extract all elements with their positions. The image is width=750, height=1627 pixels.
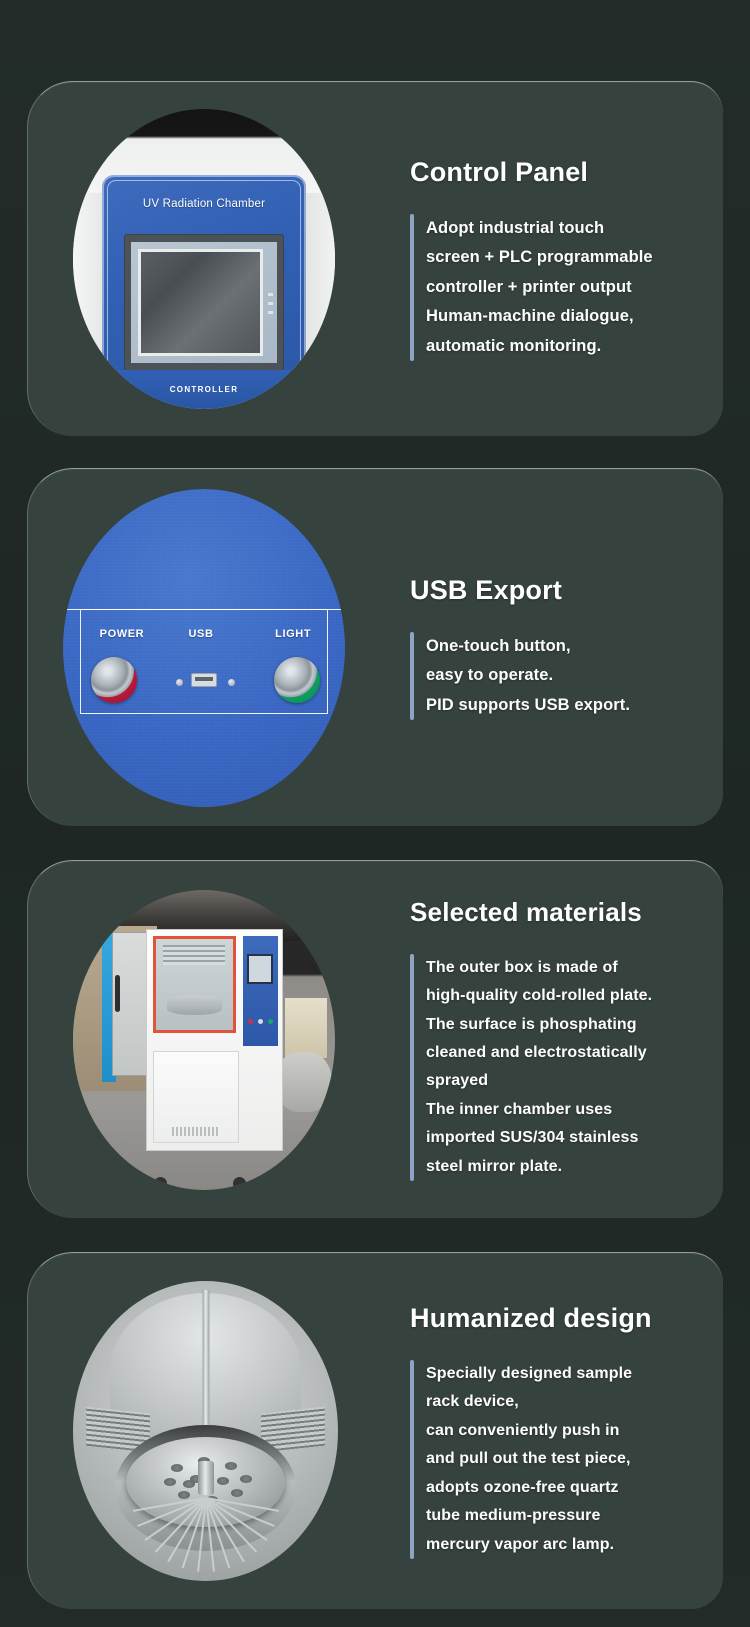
card-title-usb-export: USB Export <box>410 575 699 606</box>
body-line: and pull out the test piece, <box>426 1445 632 1473</box>
plate-hole <box>178 1491 190 1499</box>
chamber-brand-label: UV Radiation Chamber <box>102 198 306 210</box>
feature-cards-page: UV Radiation Chamber CONTROLLER Control … <box>0 0 750 1627</box>
body-line: automatic monitoring. <box>426 332 653 361</box>
plate-hole <box>240 1475 252 1483</box>
body-line: Specially designed sample <box>426 1360 632 1388</box>
body-line: PID supports USB export. <box>426 691 630 720</box>
card-title-control-panel: Control Panel <box>410 157 699 188</box>
hmi-touchscreen <box>124 234 283 371</box>
body-line: mercury vapor arc lamp. <box>426 1531 632 1559</box>
body-line: One-touch button, <box>426 632 630 661</box>
body-line: sprayed <box>426 1067 652 1095</box>
accent-bar <box>410 954 414 1182</box>
controller-panel-photo: UV Radiation Chamber CONTROLLER <box>73 109 335 409</box>
feature-card-control-panel: UV Radiation Chamber CONTROLLER Control … <box>27 81 723 436</box>
body-line: high-quality cold-rolled plate. <box>426 982 652 1010</box>
plate-hole <box>183 1480 195 1488</box>
body-line: cleaned and electrostatically <box>426 1039 652 1067</box>
accent-bar <box>410 632 414 720</box>
uv-test-chamber-machine-photo <box>73 890 335 1190</box>
body-line: rack device, <box>426 1388 632 1416</box>
plate-hole <box>225 1462 237 1470</box>
body-line: can conveniently push in <box>426 1417 632 1445</box>
card-body-control-panel: Adopt industrial touch screen + PLC prog… <box>426 214 653 361</box>
body-line: The outer box is made of <box>426 954 652 982</box>
feature-card-selected-materials: Selected materials The outer box is made… <box>27 860 723 1218</box>
light-label: LIGHT <box>275 628 311 640</box>
body-line: The inner chamber uses <box>426 1096 652 1124</box>
body-line: imported SUS/304 stainless <box>426 1124 652 1152</box>
body-line: screen + PLC programmable <box>426 243 653 272</box>
usb-control-panel-photo: POWER USB LIGHT <box>63 489 345 807</box>
body-line: steel mirror plate. <box>426 1153 652 1181</box>
card-title-selected-materials: Selected materials <box>410 898 699 928</box>
body-line: Human-machine dialogue, <box>426 302 653 331</box>
plate-hole <box>164 1478 176 1486</box>
accent-bar <box>410 214 414 361</box>
body-line: easy to operate. <box>426 661 630 690</box>
body-line: adopts ozone-free quartz <box>426 1474 632 1502</box>
feature-card-usb-export: POWER USB LIGHT USB Export One-touch but… <box>27 468 723 826</box>
plate-hole <box>231 1489 243 1497</box>
plate-hole <box>171 1464 183 1472</box>
card-body-selected-materials: The outer box is made of high-quality co… <box>426 954 652 1182</box>
body-line: tube medium-pressure <box>426 1502 632 1530</box>
controller-footer-label: CONTROLLER <box>102 370 306 409</box>
card-body-humanized-design: Specially designed sample rack device, c… <box>426 1360 632 1559</box>
control-panel-bezel: UV Radiation Chamber <box>102 175 306 403</box>
light-button-icon <box>274 657 320 703</box>
power-button-icon <box>91 657 137 703</box>
feature-card-humanized-design: Humanized design Specially designed samp… <box>27 1252 723 1609</box>
card-body-usb-export: One-touch button, easy to operate. PID s… <box>426 632 630 720</box>
stainless-sample-rack-photo <box>73 1281 338 1581</box>
accent-bar <box>410 1360 414 1559</box>
usb-label: USB <box>188 628 213 640</box>
body-line: controller + printer output <box>426 273 653 302</box>
screw-icon <box>176 679 183 686</box>
plate-hole <box>217 1477 229 1485</box>
power-label: POWER <box>100 628 145 640</box>
body-line: The surface is phosphating <box>426 1011 652 1039</box>
body-line: Adopt industrial touch <box>426 214 653 243</box>
screw-icon <box>228 679 235 686</box>
card-title-humanized-design: Humanized design <box>410 1303 699 1334</box>
usb-port-icon <box>191 673 217 687</box>
